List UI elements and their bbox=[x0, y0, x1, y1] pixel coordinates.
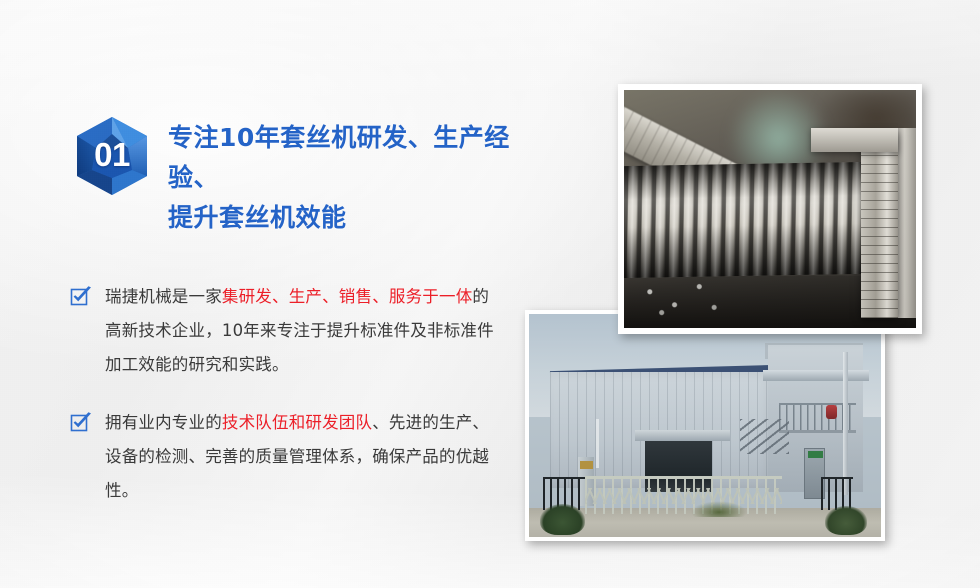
check-box-icon bbox=[70, 285, 92, 307]
bullet-1-seg-0: 瑞捷机械是一家 bbox=[105, 287, 222, 306]
list-item: 瑞捷机械是一家集研发、生产、销售、服务于一体的高新技术企业，10年来专注于提升标… bbox=[70, 280, 540, 382]
headline-row: 01 专注10年套丝机研发、生产经验、 提升套丝机效能 bbox=[70, 112, 540, 238]
bullet-2-seg-1-highlight: 技术队伍和研发团队 bbox=[222, 413, 372, 432]
bullet-1-seg-1-highlight: 集研发、生产、销售、服务于一体 bbox=[222, 287, 473, 306]
bullet-2-seg-0: 拥有业内专业的 bbox=[105, 413, 222, 432]
threaded-pipe-machining-photo bbox=[618, 84, 922, 334]
content-column: 01 专注10年套丝机研发、生产经验、 提升套丝机效能 瑞捷机械是一家集研发、生… bbox=[70, 112, 540, 532]
list-item: 拥有业内专业的技术队伍和研发团队、先进的生产、设备的检测、完善的质量管理体系，确… bbox=[70, 406, 540, 508]
step-number-badge: 01 bbox=[70, 114, 154, 198]
threaded-pipe-illustration bbox=[624, 90, 916, 328]
promo-banner: 01 专注10年套丝机研发、生产经验、 提升套丝机效能 瑞捷机械是一家集研发、生… bbox=[0, 0, 980, 588]
bullet-text-2: 拥有业内专业的技术队伍和研发团队、先进的生产、设备的检测、完善的质量管理体系，确… bbox=[105, 406, 505, 508]
check-box-icon bbox=[70, 411, 92, 433]
bullet-text-1: 瑞捷机械是一家集研发、生产、销售、服务于一体的高新技术企业，10年来专注于提升标… bbox=[105, 280, 505, 382]
step-number-label: 01 bbox=[70, 136, 154, 174]
bullet-list: 瑞捷机械是一家集研发、生产、销售、服务于一体的高新技术企业，10年来专注于提升标… bbox=[70, 280, 540, 508]
factory-building-photo bbox=[525, 310, 885, 541]
section-headline: 专注10年套丝机研发、生产经验、 提升套丝机效能 bbox=[168, 118, 540, 238]
factory-building-illustration bbox=[529, 314, 881, 537]
headline-line-2: 提升套丝机效能 bbox=[168, 198, 540, 238]
headline-line-1: 专注10年套丝机研发、生产经验、 bbox=[168, 123, 510, 192]
